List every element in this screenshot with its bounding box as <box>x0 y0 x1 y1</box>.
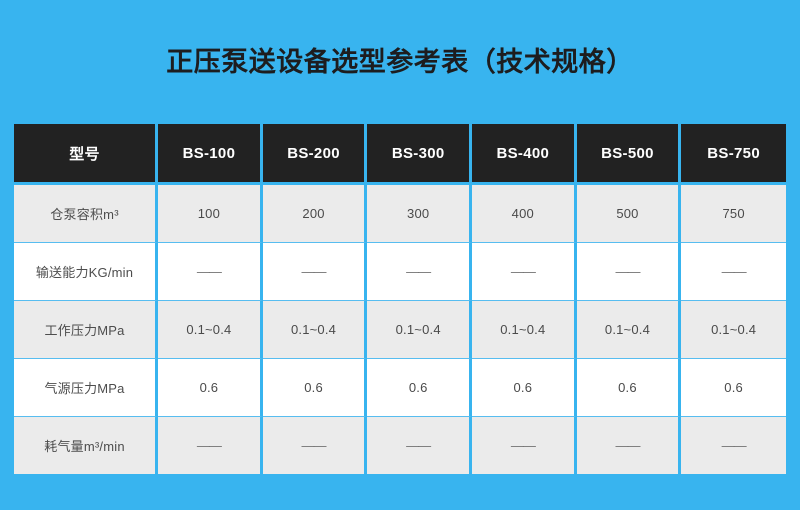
cell-bs400: 0.6 <box>472 359 577 417</box>
spec-table: 型号BS-100BS-200BS-300BS-400BS-500BS-750 仓… <box>14 124 786 474</box>
cell-bs100: 100 <box>158 185 263 243</box>
cell-bs400: —— <box>472 417 577 474</box>
table-row: 气源压力MPa0.60.60.60.60.60.6 <box>14 359 786 417</box>
cell-bs300: 0.6 <box>367 359 472 417</box>
column-header-bs750: BS-750 <box>681 124 786 185</box>
cell-bs750: 0.1~0.4 <box>681 301 786 359</box>
cell-bs200: —— <box>263 417 368 474</box>
table-row: 仓泵容积m³100200300400500750 <box>14 185 786 243</box>
row-label: 工作压力MPa <box>14 301 158 359</box>
no-value-dash: —— <box>197 264 221 279</box>
table-row: 输送能力KG/min———————————— <box>14 243 786 301</box>
page-title: 正压泵送设备选型参考表（技术规格） <box>166 49 634 76</box>
column-header-bs100: BS-100 <box>158 124 263 185</box>
cell-bs750: 0.6 <box>681 359 786 417</box>
cell-bs200: —— <box>263 243 368 301</box>
column-header-bs400: BS-400 <box>472 124 577 185</box>
page-root: 正压泵送设备选型参考表（技术规格） 型号BS-100BS-200BS-300BS… <box>0 0 800 510</box>
cell-bs300: 0.1~0.4 <box>367 301 472 359</box>
spec-table-container: 型号BS-100BS-200BS-300BS-400BS-500BS-750 仓… <box>14 124 786 467</box>
no-value-dash: —— <box>302 264 326 279</box>
table-row: 耗气量m³/min———————————— <box>14 417 786 474</box>
row-label: 耗气量m³/min <box>14 417 158 474</box>
cell-bs100: 0.1~0.4 <box>158 301 263 359</box>
row-label: 输送能力KG/min <box>14 243 158 301</box>
cell-bs750: —— <box>681 243 786 301</box>
cell-bs100: —— <box>158 417 263 474</box>
table-row: 工作压力MPa0.1~0.40.1~0.40.1~0.40.1~0.40.1~0… <box>14 301 786 359</box>
cell-bs300: 300 <box>367 185 472 243</box>
cell-bs400: —— <box>472 243 577 301</box>
cell-bs200: 200 <box>263 185 368 243</box>
cell-bs400: 400 <box>472 185 577 243</box>
no-value-dash: —— <box>615 264 639 279</box>
cell-bs500: —— <box>577 243 682 301</box>
cell-bs300: —— <box>367 243 472 301</box>
cell-bs500: 500 <box>577 185 682 243</box>
title-banner: 正压泵送设备选型参考表（技术规格） <box>0 0 800 124</box>
no-value-dash: —— <box>406 438 430 453</box>
column-header-bs300: BS-300 <box>367 124 472 185</box>
no-value-dash: —— <box>722 438 746 453</box>
row-label: 仓泵容积m³ <box>14 185 158 243</box>
column-header-label: 型号 <box>14 124 158 185</box>
column-header-bs500: BS-500 <box>577 124 682 185</box>
header-row: 型号BS-100BS-200BS-300BS-400BS-500BS-750 <box>14 124 786 185</box>
cell-bs500: 0.6 <box>577 359 682 417</box>
no-value-dash: —— <box>511 438 535 453</box>
no-value-dash: —— <box>302 438 326 453</box>
no-value-dash: —— <box>197 438 221 453</box>
cell-bs750: 750 <box>681 185 786 243</box>
cell-bs200: 0.1~0.4 <box>263 301 368 359</box>
cell-bs750: —— <box>681 417 786 474</box>
no-value-dash: —— <box>722 264 746 279</box>
column-header-bs200: BS-200 <box>263 124 368 185</box>
cell-bs100: 0.6 <box>158 359 263 417</box>
no-value-dash: —— <box>406 264 430 279</box>
no-value-dash: —— <box>615 438 639 453</box>
cell-bs500: —— <box>577 417 682 474</box>
cell-bs300: —— <box>367 417 472 474</box>
cell-bs100: —— <box>158 243 263 301</box>
table-body: 仓泵容积m³100200300400500750输送能力KG/min——————… <box>14 185 786 474</box>
cell-bs500: 0.1~0.4 <box>577 301 682 359</box>
no-value-dash: —— <box>511 264 535 279</box>
cell-bs400: 0.1~0.4 <box>472 301 577 359</box>
row-label: 气源压力MPa <box>14 359 158 417</box>
cell-bs200: 0.6 <box>263 359 368 417</box>
table-head: 型号BS-100BS-200BS-300BS-400BS-500BS-750 <box>14 124 786 185</box>
